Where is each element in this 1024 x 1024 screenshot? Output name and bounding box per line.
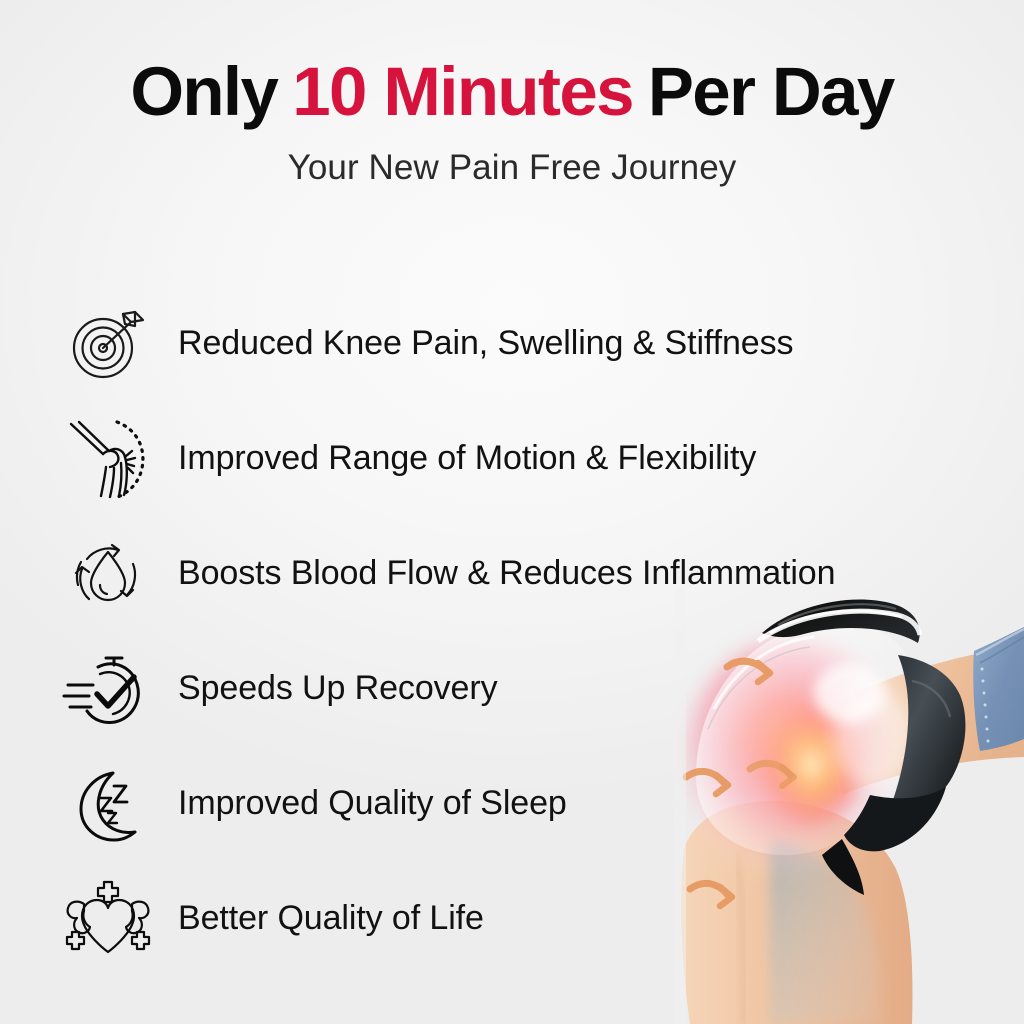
knee-joint-motion-icon	[56, 413, 160, 505]
benefit-item-reduced-pain: Reduced Knee Pain, Swelling & Stiffness	[56, 286, 956, 401]
headline-accent: 10 Minutes	[292, 53, 633, 130]
benefit-label: Speeds Up Recovery	[160, 669, 497, 708]
benefit-label: Boosts Blood Flow & Reduces Inflammation	[160, 554, 835, 593]
denim-shorts	[973, 627, 1024, 751]
benefit-item-range-of-motion: Improved Range of Motion & Flexibility	[56, 401, 956, 516]
benefit-label: Improved Range of Motion & Flexibility	[160, 439, 756, 478]
page-title: Only10 MinutesPer Day	[0, 56, 1024, 128]
moon-zzz-sleep-icon	[56, 758, 160, 850]
promo-poster: Only10 MinutesPer Day Your New Pain Free…	[0, 0, 1024, 1024]
headline-part-2: Per Day	[648, 53, 894, 130]
heart-muscle-cross-icon	[56, 873, 160, 965]
stopwatch-check-speed-icon	[56, 643, 160, 735]
page-subtitle: Your New Pain Free Journey	[0, 148, 1024, 188]
benefit-label: Improved Quality of Sleep	[160, 784, 567, 823]
blood-droplet-circulation-icon	[56, 528, 160, 620]
benefit-label: Reduced Knee Pain, Swelling & Stiffness	[160, 324, 793, 363]
benefit-label: Better Quality of Life	[160, 899, 484, 938]
target-arrow-icon	[56, 298, 160, 390]
headline-part-1: Only	[130, 53, 277, 130]
product-image-knee-massager	[674, 589, 1024, 1024]
